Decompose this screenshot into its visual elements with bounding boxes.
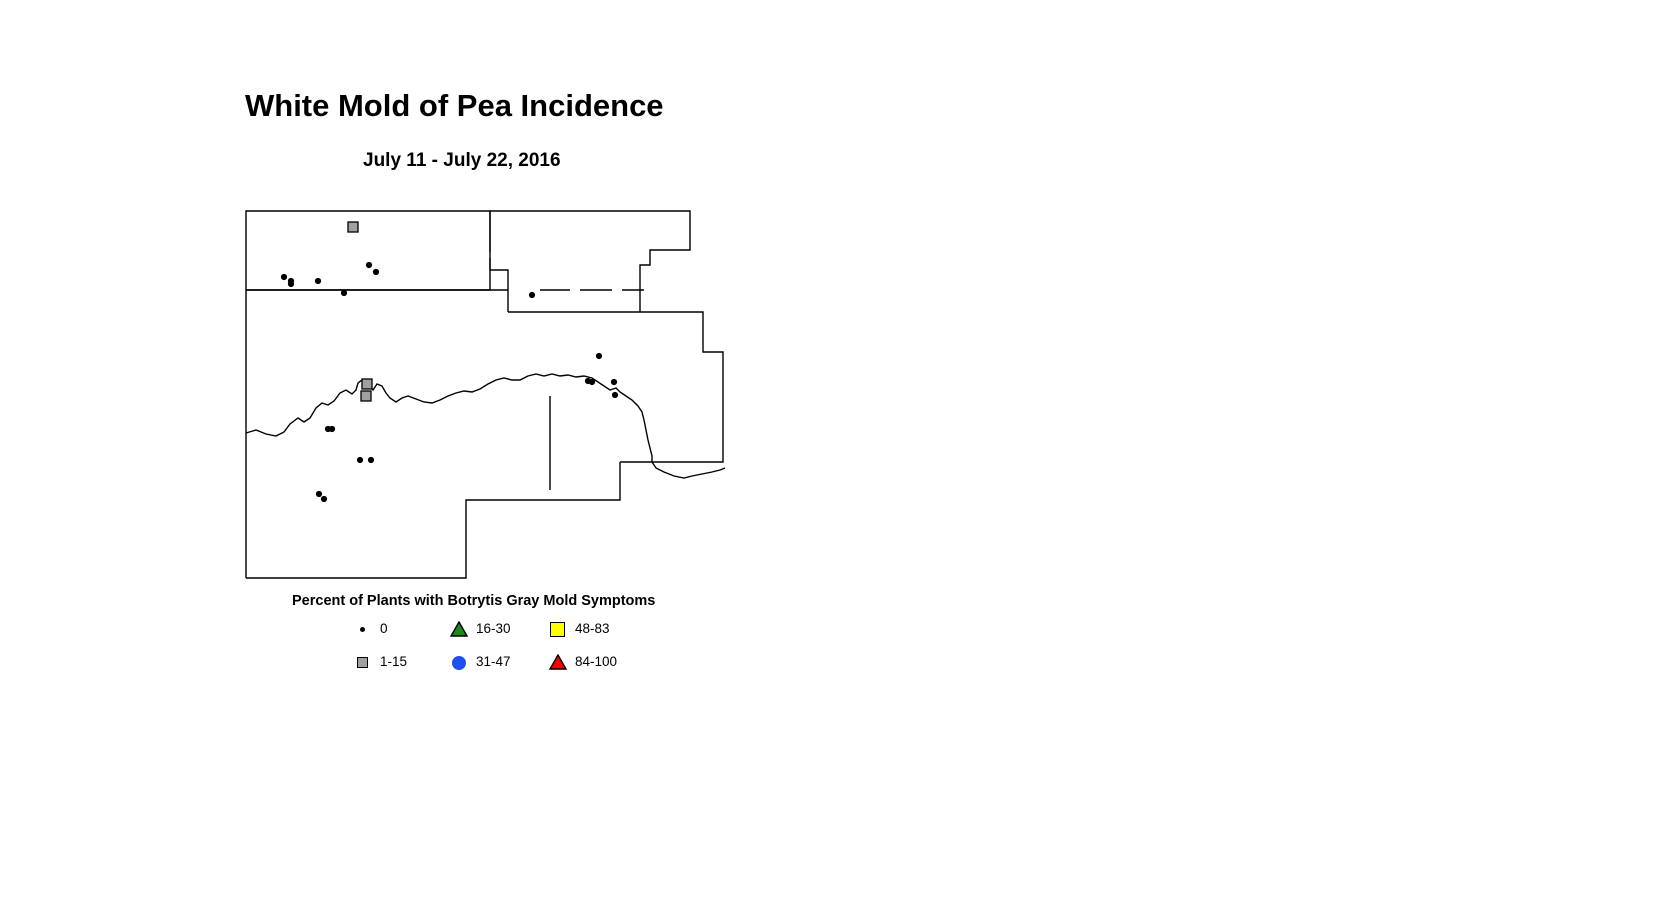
map-point-small-dot — [329, 426, 335, 432]
map-container — [240, 200, 740, 590]
boundary-central-east-block — [508, 312, 723, 462]
map-point-small-dot — [321, 496, 327, 502]
map-point-small-dot — [366, 262, 372, 268]
small-dot-icon — [352, 618, 374, 640]
map-point-small-dot — [281, 274, 287, 280]
page-title: White Mold of Pea Incidence — [245, 88, 664, 124]
map-point-small-dot — [373, 269, 379, 275]
map-point-small-dot — [341, 290, 347, 296]
map-point-small-dot — [368, 457, 374, 463]
map-point-small-dot — [596, 353, 602, 359]
map-point-small-dot — [589, 379, 595, 385]
red-triangle-icon — [547, 651, 569, 673]
legend-item-label: 31-47 — [476, 654, 511, 669]
gray-square-icon — [352, 651, 374, 673]
map-point-gray-square — [361, 391, 371, 401]
map-legend: Percent of Plants with Botrytis Gray Mol… — [240, 588, 760, 688]
boundary-nw-ne-divider-lower — [490, 258, 508, 290]
map-boundaries — [246, 211, 725, 578]
map-point-small-dot — [288, 278, 294, 284]
boundary-river-line-lower — [652, 462, 725, 478]
map-point-small-dot — [316, 491, 322, 497]
legend-item-label: 84-100 — [575, 654, 617, 669]
legend-item-label: 48-83 — [575, 621, 610, 636]
page-subtitle: July 11 - July 22, 2016 — [363, 150, 561, 172]
yellow-square-icon — [547, 618, 569, 640]
boundary-river-line — [246, 374, 652, 462]
map-point-small-dot — [611, 379, 617, 385]
map-point-small-dot — [315, 278, 321, 284]
map-point-gray-square — [362, 379, 372, 389]
county-map-svg — [240, 200, 740, 590]
legend-item-label: 1-15 — [380, 654, 407, 669]
blue-circle-icon — [448, 651, 470, 673]
map-point-small-dot — [357, 457, 363, 463]
boundary-south-edge — [246, 462, 620, 578]
legend-item-label: 0 — [380, 621, 388, 636]
green-triangle-icon — [448, 618, 470, 640]
map-data-points — [281, 222, 618, 502]
legend-item-label: 16-30 — [476, 621, 511, 636]
boundary-northeast-block — [490, 211, 690, 312]
map-page: White Mold of Pea Incidence July 11 - Ju… — [0, 0, 1673, 900]
map-point-small-dot — [612, 392, 618, 398]
map-point-small-dot — [529, 292, 535, 298]
legend-title: Percent of Plants with Botrytis Gray Mol… — [292, 593, 655, 609]
map-point-gray-square — [348, 222, 358, 232]
